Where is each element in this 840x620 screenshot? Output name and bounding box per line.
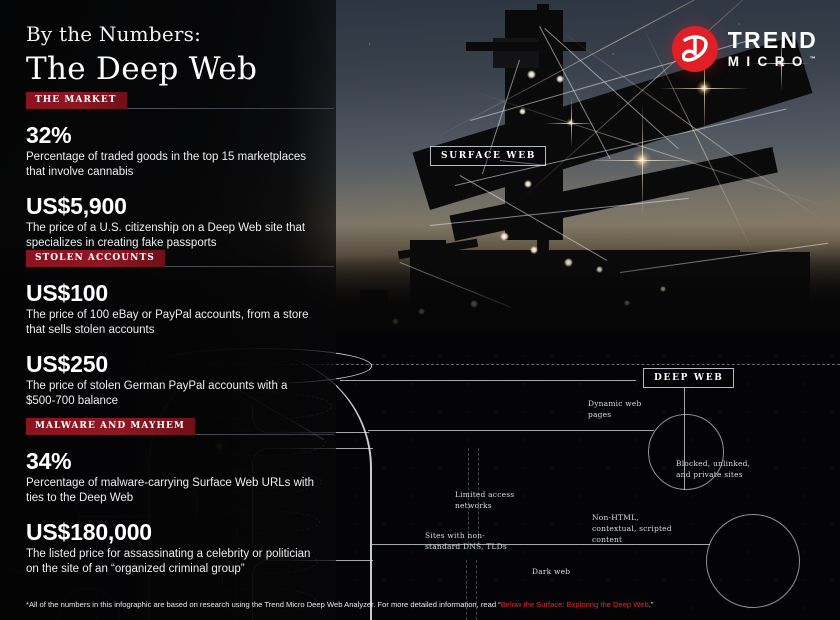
work-light: [530, 246, 538, 254]
stat-value: US$180,000: [26, 519, 316, 545]
footer-suffix: .”: [649, 600, 654, 609]
stat-item: 32% Percentage of traded goods in the to…: [26, 122, 316, 179]
stat-value: 32%: [26, 122, 316, 148]
section-the-market: THE MARKET 32% Percentage of traded good…: [26, 92, 316, 264]
logo-micro-text: MICRO™: [728, 55, 818, 69]
section-stolen-accounts: STOLEN ACCOUNTS US$100 The price of 100 …: [26, 250, 316, 422]
logo-trend-text: TREND: [728, 29, 818, 52]
annotation-limited-access: Limited access networks: [455, 489, 535, 511]
annotation-text: Limited access networks: [455, 490, 514, 510]
work-light: [524, 180, 532, 188]
lens-flare: [696, 80, 712, 96]
vertical-dash: [476, 560, 477, 620]
annotation-text: Sites with non-standard DNS, TLDs: [425, 531, 507, 551]
work-light: [500, 232, 509, 241]
stat-value: 34%: [26, 448, 316, 474]
page-title: By the Numbers: The Deep Web: [26, 22, 257, 87]
trademark-symbol: ™: [810, 57, 816, 63]
title-eyebrow: By the Numbers:: [26, 22, 257, 46]
annotation-dynamic-web-pages: Dynamic web pages: [588, 398, 658, 420]
work-light: [527, 70, 536, 79]
annotation-nonstandard-dns: Sites with non-standard DNS, TLDs: [425, 530, 517, 552]
footer-link[interactable]: Below the Surface: Exploring the Deep We…: [501, 600, 649, 609]
stat-value: US$100: [26, 280, 316, 306]
stat-item: US$5,900 The price of a U.S. citizenship…: [26, 193, 316, 250]
section-header: MALWARE AND MAYHEM: [26, 418, 316, 435]
section-header: THE MARKET: [26, 92, 316, 109]
logo-wordmark: TREND MICRO™: [728, 29, 818, 69]
section-header: STOLEN ACCOUNTS: [26, 250, 316, 267]
circle-node-right-lower: [706, 514, 800, 608]
stat-description: Percentage of traded goods in the top 15…: [26, 150, 316, 179]
stat-item: US$250 The price of stolen German PayPal…: [26, 351, 316, 408]
annotation-dark-web: Dark web: [532, 566, 602, 577]
stat-description: The price of a U.S. citizenship on a Dee…: [26, 221, 316, 250]
annotation-blocked-sites: Blocked, unlinked, and private sites: [676, 458, 766, 480]
swoosh-glyph: [682, 34, 708, 64]
stat-value: US$5,900: [26, 193, 316, 219]
stat-item: US$180,000 The listed price for assassin…: [26, 519, 316, 576]
title-main: The Deep Web: [26, 51, 257, 87]
logo-micro-label: MICRO: [728, 54, 810, 69]
vertical-dash: [466, 560, 467, 620]
section-malware-and-mayhem: MALWARE AND MAYHEM 34% Percentage of mal…: [26, 418, 316, 590]
lens-flare: [566, 118, 575, 127]
annotation-text: Dark web: [532, 567, 570, 576]
annotation-text: Dynamic web pages: [588, 399, 642, 419]
stat-description: The price of 100 eBay or PayPal accounts…: [26, 308, 316, 337]
connector-dynamic-to-circle: [368, 430, 654, 432]
work-light: [556, 75, 564, 83]
trend-micro-swoosh-icon: [672, 26, 718, 72]
work-light: [519, 108, 526, 115]
section-badge: MALWARE AND MAYHEM: [26, 418, 195, 435]
section-badge: THE MARKET: [26, 92, 127, 109]
lens-flare: [632, 150, 652, 170]
deep-web-label: DEEP WEB: [643, 368, 734, 388]
annotation-non-html: Non-HTML, contextual, scripted content: [592, 512, 684, 545]
infographic-root: SURFACE WEB: [0, 0, 840, 620]
connector-deep-web-lead: [340, 380, 636, 382]
trend-micro-logo: TREND MICRO™: [672, 26, 818, 72]
stats-panel: By the Numbers: The Deep Web THE MARKET …: [0, 0, 336, 620]
stat-description: The price of stolen German PayPal accoun…: [26, 379, 316, 408]
stat-description: Percentage of malware-carrying Surface W…: [26, 476, 316, 505]
stat-item: US$100 The price of 100 eBay or PayPal a…: [26, 280, 316, 337]
stat-value: US$250: [26, 351, 316, 377]
footer-disclaimer: *All of the numbers in this infographic …: [26, 599, 826, 610]
annotation-text: Blocked, unlinked, and private sites: [676, 459, 750, 479]
footer-prefix: *All of the numbers in this infographic …: [26, 600, 501, 609]
stat-item: 34% Percentage of malware-carrying Surfa…: [26, 448, 316, 505]
section-badge: STOLEN ACCOUNTS: [26, 250, 165, 267]
annotation-text: Non-HTML, contextual, scripted content: [592, 513, 672, 544]
stat-description: The listed price for assassinating a cel…: [26, 547, 316, 576]
